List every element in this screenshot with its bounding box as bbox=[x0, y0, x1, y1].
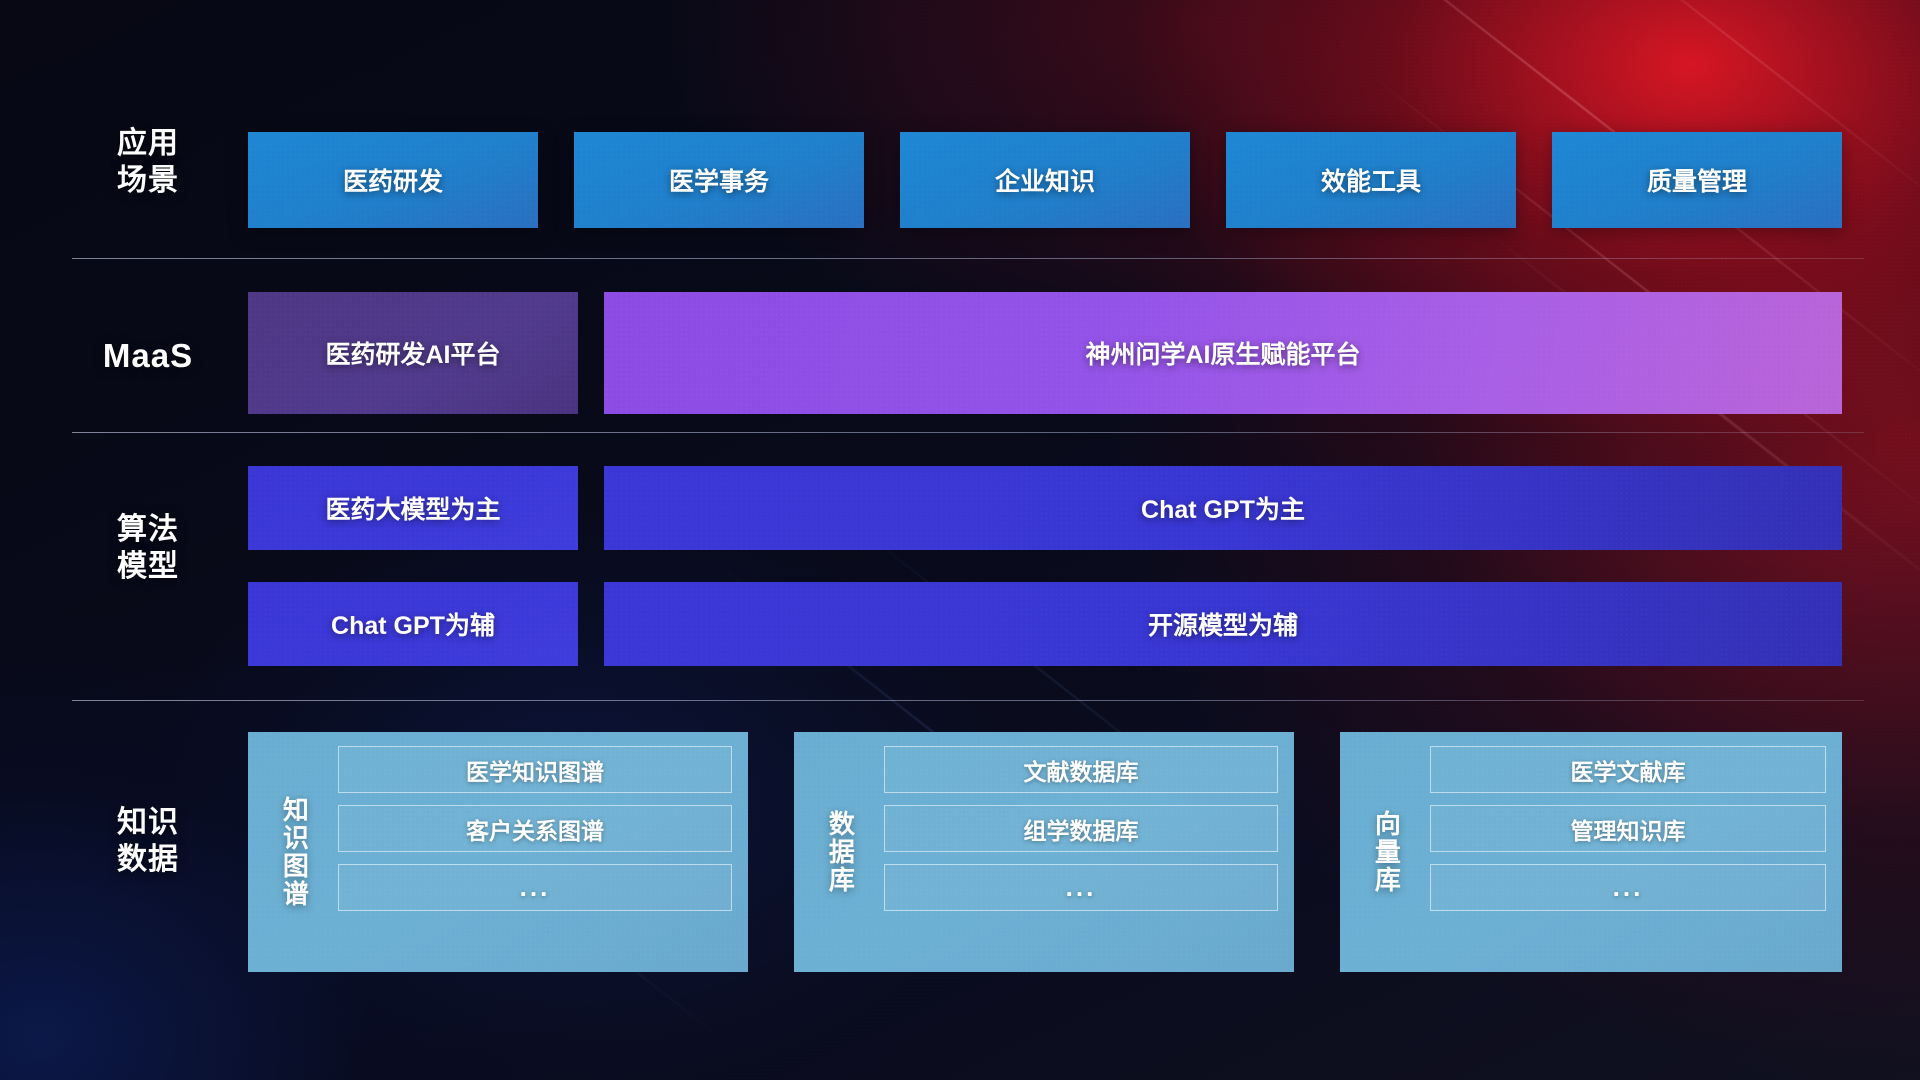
scenario-card-label: 效能工具 bbox=[1321, 162, 1421, 198]
algorithm-card-medical-main[interactable]: 医药大模型为主 bbox=[248, 466, 578, 550]
scenario-card-label: 企业知识 bbox=[995, 162, 1095, 198]
algorithm-card-label: 医药大模型为主 bbox=[325, 490, 500, 526]
algorithm-card-label: Chat GPT为辅 bbox=[331, 606, 495, 642]
row-label-algorithm-models: 算法 模型 bbox=[88, 512, 208, 585]
row-label-application-scenarios: 应用 场景 bbox=[88, 126, 208, 199]
knowledge-item[interactable]: 组学数据库 bbox=[884, 805, 1278, 852]
maas-card-label: 神州问学AI原生赋能平台 bbox=[1085, 335, 1360, 371]
scenario-card-2[interactable]: 企业知识 bbox=[900, 132, 1190, 228]
knowledge-group-vector[interactable]: 向量库 医学文献库 管理知识库 ... bbox=[1340, 732, 1842, 972]
maas-card-label: 医药研发AI平台 bbox=[325, 335, 500, 371]
scenario-card-3[interactable]: 效能工具 bbox=[1226, 132, 1516, 228]
algorithm-card-chatgpt-aux[interactable]: Chat GPT为辅 bbox=[248, 582, 578, 666]
row-divider-3 bbox=[72, 700, 1864, 701]
knowledge-group-label: 知识图谱 bbox=[264, 746, 324, 958]
scenario-card-4[interactable]: 质量管理 bbox=[1552, 132, 1842, 228]
knowledge-item[interactable]: 文献数据库 bbox=[884, 746, 1278, 793]
knowledge-item[interactable]: 医学知识图谱 bbox=[338, 746, 732, 793]
maas-card-shenzhou-platform[interactable]: 神州问学AI原生赋能平台 bbox=[604, 292, 1842, 414]
scenario-card-label: 质量管理 bbox=[1647, 162, 1747, 198]
knowledge-group-label: 向量库 bbox=[1356, 746, 1416, 958]
knowledge-group-items: 文献数据库 组学数据库 ... bbox=[884, 746, 1278, 958]
scenario-card-label: 医学事务 bbox=[669, 162, 769, 198]
row-divider-1 bbox=[72, 258, 1864, 259]
row-label-knowledge-data: 知识 数据 bbox=[88, 805, 208, 878]
maas-card-medical-platform[interactable]: 医药研发AI平台 bbox=[248, 292, 578, 414]
knowledge-group-items: 医学知识图谱 客户关系图谱 ... bbox=[338, 746, 732, 958]
scenario-card-label: 医药研发 bbox=[343, 162, 443, 198]
knowledge-item-more[interactable]: ... bbox=[1430, 864, 1826, 911]
knowledge-item[interactable]: 管理知识库 bbox=[1430, 805, 1826, 852]
knowledge-item[interactable]: 客户关系图谱 bbox=[338, 805, 732, 852]
scenario-card-0[interactable]: 医药研发 bbox=[248, 132, 538, 228]
knowledge-group-database[interactable]: 数据库 文献数据库 组学数据库 ... bbox=[794, 732, 1294, 972]
knowledge-group-graph[interactable]: 知识图谱 医学知识图谱 客户关系图谱 ... bbox=[248, 732, 748, 972]
scenario-card-1[interactable]: 医学事务 bbox=[574, 132, 864, 228]
knowledge-item[interactable]: 医学文献库 bbox=[1430, 746, 1826, 793]
knowledge-group-label: 数据库 bbox=[810, 746, 870, 958]
knowledge-item-more[interactable]: ... bbox=[884, 864, 1278, 911]
row-label-maas: MaaS bbox=[78, 336, 218, 376]
architecture-stack: 应用 场景 医药研发 医学事务 企业知识 效能工具 质量管理 MaaS 医药研发… bbox=[0, 0, 1920, 1080]
algorithm-card-label: Chat GPT为主 bbox=[1141, 490, 1305, 526]
row-divider-2 bbox=[72, 432, 1864, 433]
algorithm-card-chatgpt-main[interactable]: Chat GPT为主 bbox=[604, 466, 1842, 550]
knowledge-group-items: 医学文献库 管理知识库 ... bbox=[1430, 746, 1826, 958]
algorithm-card-opensource-aux[interactable]: 开源模型为辅 bbox=[604, 582, 1842, 666]
knowledge-item-more[interactable]: ... bbox=[338, 864, 732, 911]
algorithm-card-label: 开源模型为辅 bbox=[1148, 606, 1298, 642]
